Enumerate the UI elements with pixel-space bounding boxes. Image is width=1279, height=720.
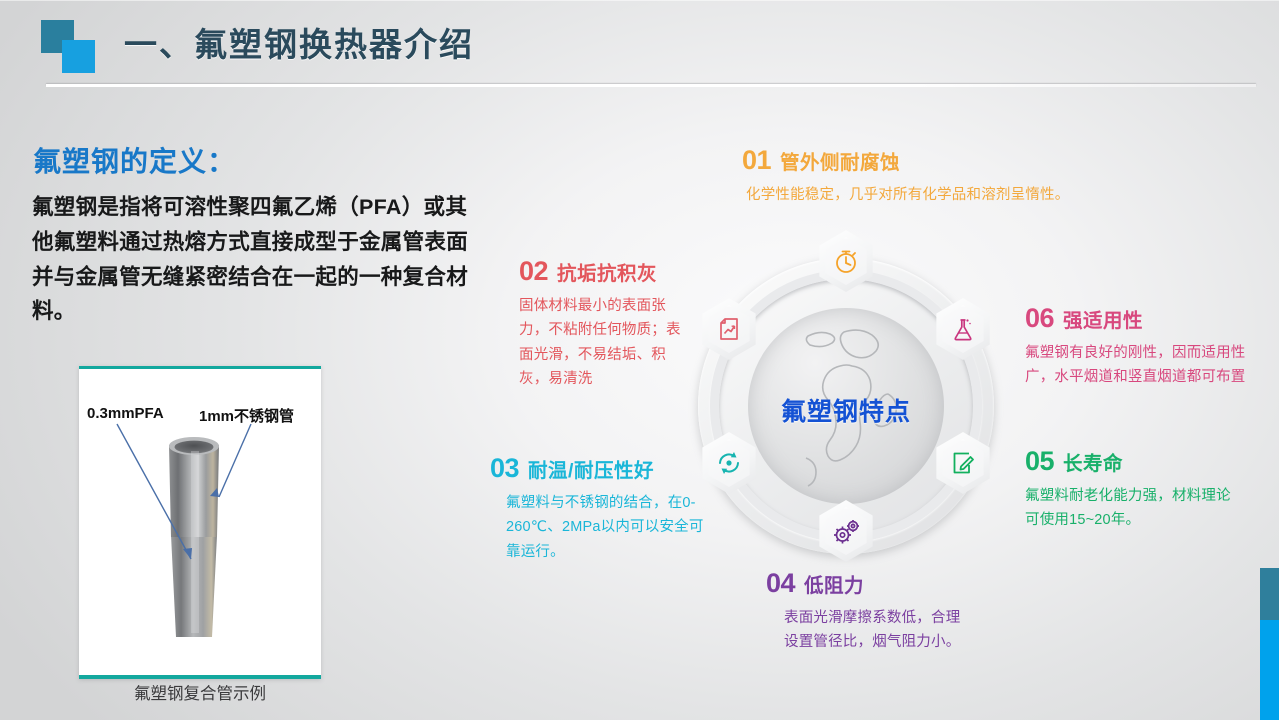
feature-block-03: 03耐温/耐压性好 氟塑料与不锈钢的结合，在0-260℃、2MPa以内可以安全可… bbox=[490, 455, 705, 564]
flask-icon bbox=[948, 314, 978, 344]
definition-body: 氟塑钢是指将可溶性聚四氟乙烯（PFA）或其他氟塑料通过热熔方式直接成型于金属管表… bbox=[32, 190, 482, 329]
edit-document-icon bbox=[948, 448, 978, 478]
hex-node-stopwatch[interactable] bbox=[815, 230, 877, 292]
gears-icon bbox=[830, 516, 862, 546]
chart-document-icon bbox=[714, 314, 744, 344]
feature-number: 03 bbox=[490, 453, 519, 483]
feature-title: 长寿命 bbox=[1063, 453, 1123, 475]
feature-heading: 01管外侧耐腐蚀 bbox=[742, 147, 1069, 174]
stopwatch-icon bbox=[831, 246, 861, 276]
hex-node-recycle[interactable] bbox=[698, 432, 760, 494]
feature-block-05: 05长寿命 氟塑料耐老化能力强，材料理论可使用15~20年。 bbox=[1025, 448, 1240, 533]
feature-heading: 05长寿命 bbox=[1025, 448, 1240, 475]
feature-heading: 04低阻力 bbox=[766, 570, 966, 597]
feature-description: 氟塑料与不锈钢的结合，在0-260℃、2MPa以内可以安全可靠运行。 bbox=[506, 491, 705, 564]
header-divider bbox=[46, 84, 1256, 87]
wheel-center-label: 氟塑钢特点 bbox=[748, 392, 944, 428]
feature-block-06: 06强适用性 氟塑钢有良好的刚性，因而适用性广，水平烟道和竖直烟道都可布置 bbox=[1025, 305, 1260, 390]
feature-block-02: 02抗垢抗积灰 固体材料最小的表面张力，不粘附任何物质；表面光滑，不易结垢、积灰… bbox=[519, 258, 684, 391]
feature-title: 强适用性 bbox=[1063, 310, 1143, 332]
feature-description: 固体材料最小的表面张力，不粘附任何物质；表面光滑，不易结垢、积灰，易清洗 bbox=[519, 294, 684, 391]
feature-title: 低阻力 bbox=[804, 575, 864, 597]
hex-node-chart-document[interactable] bbox=[698, 298, 760, 360]
slide-root: 一、氟塑钢换热器介绍 氟塑钢的定义： 氟塑钢是指将可溶性聚四氟乙烯（PFA）或其… bbox=[0, 0, 1279, 720]
feature-number: 06 bbox=[1025, 303, 1054, 333]
recycle-icon bbox=[714, 448, 744, 478]
feature-heading: 06强适用性 bbox=[1025, 305, 1260, 332]
feature-block-04: 04低阻力 表面光滑摩擦系数低，合理设置管径比，烟气阻力小。 bbox=[766, 570, 966, 655]
header-square-light-icon bbox=[62, 40, 95, 73]
features-wheel-diagram: 氟塑钢特点 bbox=[676, 236, 1016, 576]
feature-description: 氟塑料耐老化能力强，材料理论可使用15~20年。 bbox=[1025, 484, 1240, 533]
photo-label-stainless: 1mm不锈钢管 bbox=[199, 405, 294, 426]
slide-header: 一、氟塑钢换热器介绍 bbox=[0, 0, 1279, 100]
feature-title: 耐温/耐压性好 bbox=[528, 460, 654, 482]
feature-number: 02 bbox=[519, 256, 548, 286]
page-title: 一、氟塑钢换热器介绍 bbox=[124, 18, 474, 66]
feature-number: 01 bbox=[742, 145, 771, 175]
top-edge-line bbox=[0, 0, 1279, 1]
feature-number: 05 bbox=[1025, 446, 1054, 476]
photo-caption: 氟塑钢复合管示例 bbox=[79, 680, 321, 704]
feature-block-01: 01管外侧耐腐蚀 化学性能稳定，几乎对所有化学品和溶剂呈惰性。 bbox=[742, 147, 1069, 207]
accent-bar-bottom bbox=[1260, 620, 1279, 720]
feature-heading: 02抗垢抗积灰 bbox=[519, 258, 684, 285]
definition-title: 氟塑钢的定义： bbox=[33, 140, 236, 180]
feature-description: 化学性能稳定，几乎对所有化学品和溶剂呈惰性。 bbox=[746, 183, 1069, 207]
hex-node-edit-document[interactable] bbox=[932, 432, 994, 494]
hex-node-gears[interactable] bbox=[815, 500, 877, 562]
feature-title: 管外侧耐腐蚀 bbox=[780, 152, 900, 174]
feature-description: 表面光滑摩擦系数低，合理设置管径比，烟气阻力小。 bbox=[784, 606, 966, 655]
hex-node-flask[interactable] bbox=[932, 298, 994, 360]
feature-description: 氟塑钢有良好的刚性，因而适用性广，水平烟道和竖直烟道都可布置 bbox=[1025, 341, 1260, 390]
globe-graphic: 氟塑钢特点 bbox=[748, 308, 944, 504]
feature-heading: 03耐温/耐压性好 bbox=[490, 455, 705, 482]
feature-title: 抗垢抗积灰 bbox=[557, 263, 657, 285]
composite-pipe-photo: 0.3mmPFA 1mm不锈钢管 bbox=[79, 366, 321, 679]
photo-label-pfa: 0.3mmPFA bbox=[87, 405, 164, 422]
accent-bar-top bbox=[1260, 568, 1279, 620]
feature-number: 04 bbox=[766, 568, 795, 598]
